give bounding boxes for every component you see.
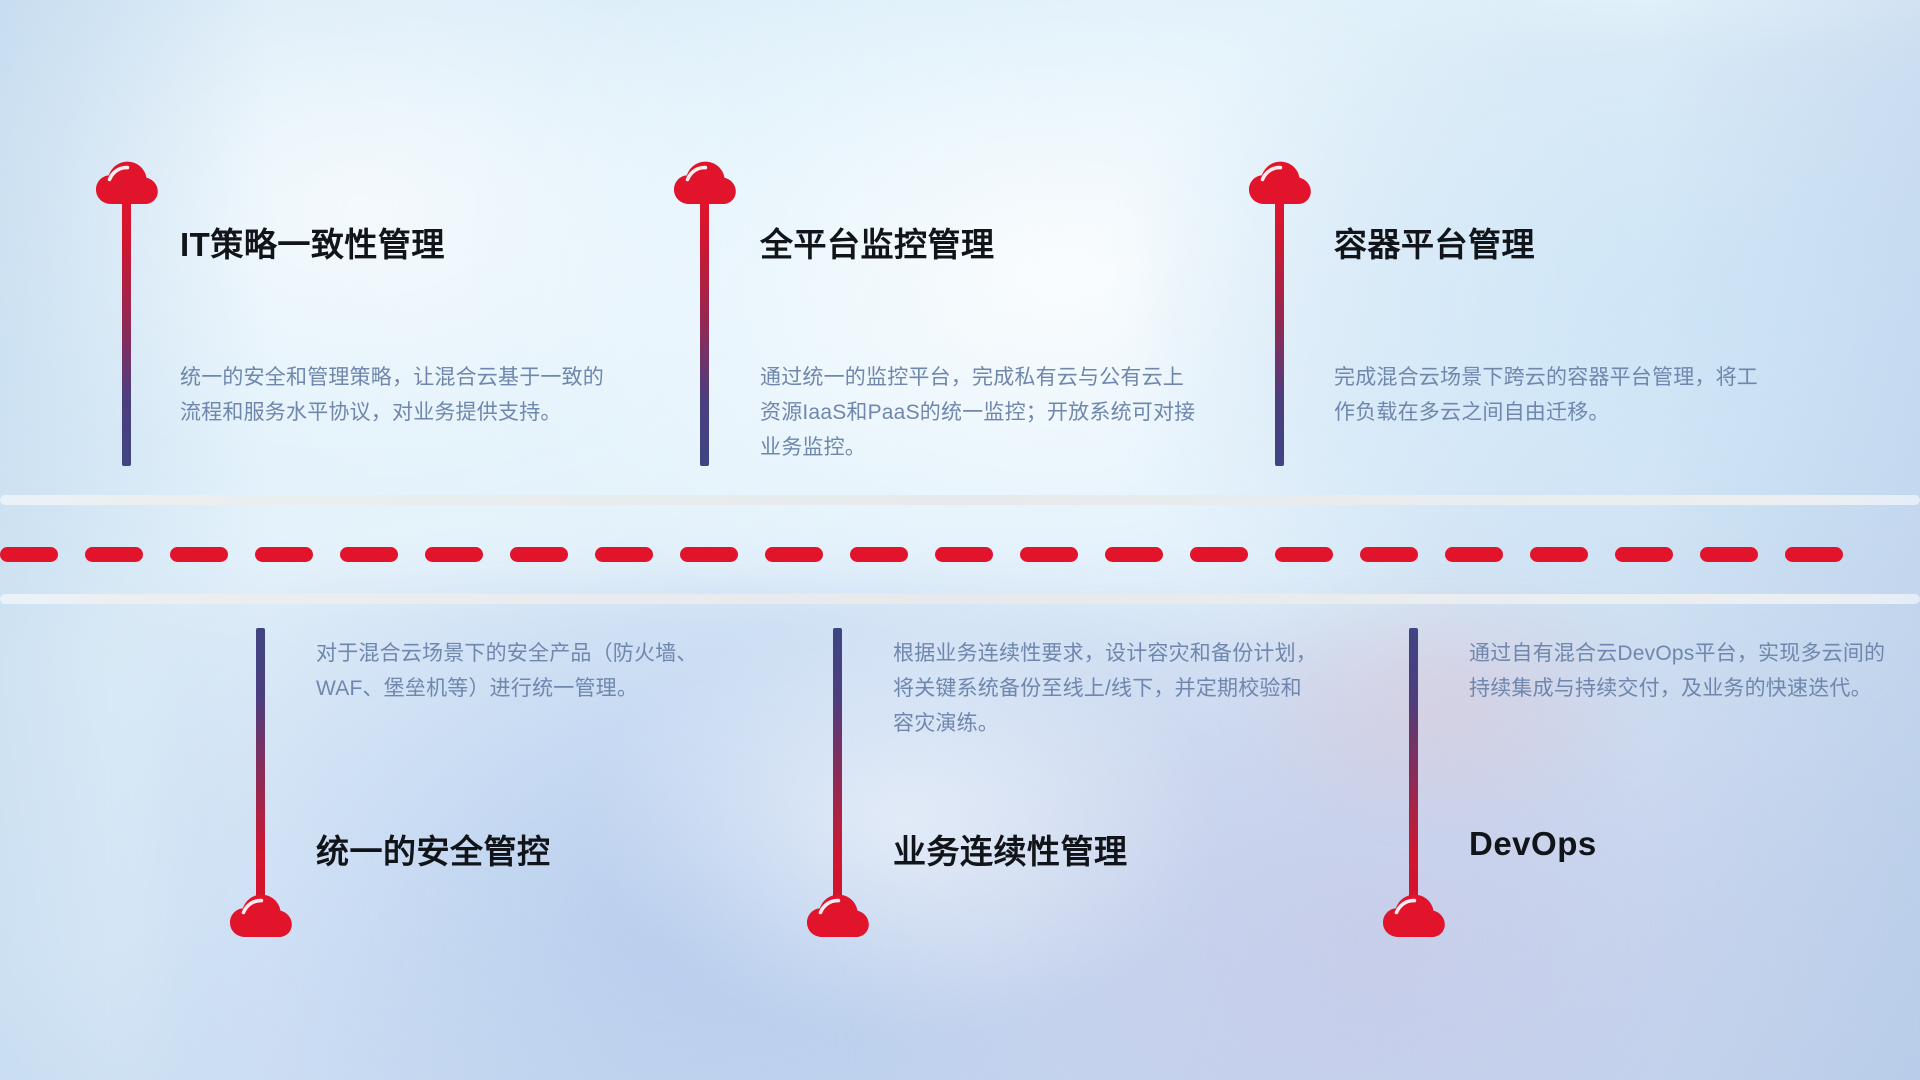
connector-line (1275, 198, 1284, 466)
connector-line (122, 198, 131, 466)
cloud-icon (1382, 893, 1446, 939)
divider-dash (935, 547, 993, 562)
divider-dash (1360, 547, 1418, 562)
cloud-icon (229, 893, 293, 939)
section-heading: DevOps (1469, 825, 1597, 863)
section-body: 根据业务连续性要求，设计容灾和备份计划，将关键系统备份至线上/线下，并定期校验和… (893, 636, 1323, 741)
divider-dash (1615, 547, 1673, 562)
section-body: 统一的安全和管理策略，让混合云基于一致的流程和服务水平协议，对业务提供支持。 (180, 360, 610, 430)
section-body: 完成混合云场景下跨云的容器平台管理，将工作负载在多云之间自由迁移。 (1334, 360, 1764, 430)
divider-dash (510, 547, 568, 562)
divider-dash (1275, 547, 1333, 562)
divider-dash (1700, 547, 1758, 562)
section-heading: 业务连续性管理 (893, 825, 1128, 873)
divider-rule-bottom (0, 594, 1920, 604)
divider-dash (595, 547, 653, 562)
divider-dash (255, 547, 313, 562)
section-heading: 统一的安全管控 (316, 825, 551, 873)
section-heading: 全平台监控管理 (760, 218, 995, 266)
infographic-canvas: IT策略一致性管理 统一的安全和管理策略，让混合云基于一致的流程和服务水平协议，… (0, 0, 1920, 1080)
divider-dash (680, 547, 738, 562)
divider-dash (850, 547, 908, 562)
divider-dash (765, 547, 823, 562)
divider-dash (1020, 547, 1078, 562)
divider-dash (170, 547, 228, 562)
divider-dash (425, 547, 483, 562)
divider-dash (1445, 547, 1503, 562)
cloud-icon (806, 893, 870, 939)
divider-dash (1190, 547, 1248, 562)
section-body: 对于混合云场景下的安全产品（防火墙、WAF、堡垒机等）进行统一管理。 (316, 636, 736, 706)
section-heading: IT策略一致性管理 (180, 218, 445, 266)
connector-line (833, 628, 842, 898)
section-body: 通过统一的监控平台，完成私有云与公有云上资源IaaS和PaaS的统一监控；开放系… (760, 360, 1200, 465)
divider-dash (1105, 547, 1163, 562)
section-body: 通过自有混合云DevOps平台，实现多云间的持续集成与持续交付，及业务的快速迭代… (1469, 636, 1889, 706)
divider-dash (85, 547, 143, 562)
connector-line (1409, 628, 1418, 898)
connector-line (256, 628, 265, 898)
connector-line (700, 198, 709, 466)
divider-rule-top (0, 495, 1920, 505)
divider-dash (1530, 547, 1588, 562)
section-heading: 容器平台管理 (1334, 218, 1535, 266)
divider-dash (1785, 547, 1843, 562)
divider-dashed-line (0, 546, 1920, 562)
divider-dash (0, 547, 58, 562)
divider-dash (340, 547, 398, 562)
